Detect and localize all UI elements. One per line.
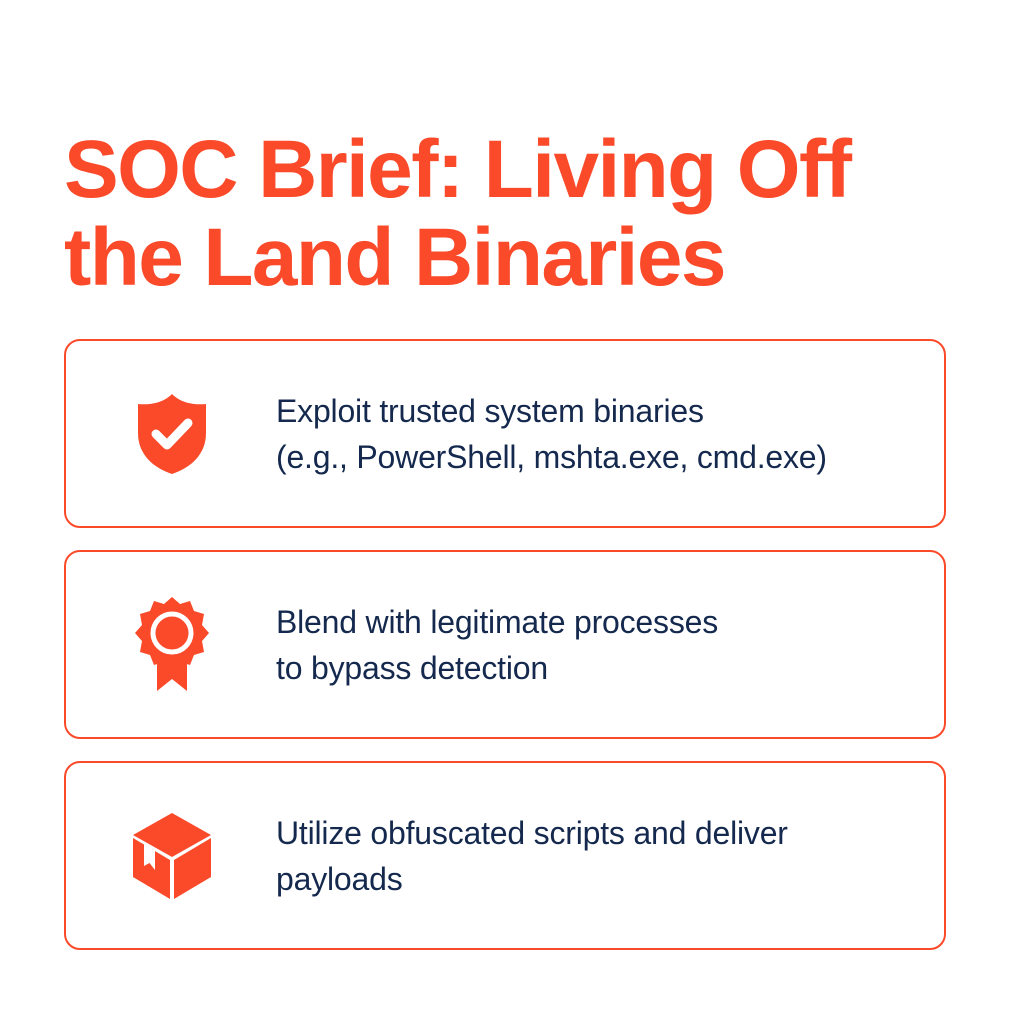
shield-check-icon: [130, 392, 214, 476]
card-item[interactable]: Exploit trusted system binaries (e.g., P…: [64, 339, 946, 528]
card-item[interactable]: Utilize obfuscated scripts and deliver p…: [64, 761, 946, 950]
card-item[interactable]: Blend with legitimate processes to bypas…: [64, 550, 946, 739]
package-box-icon: [130, 814, 214, 898]
title-block: SOC Brief: Living Off the Land Binaries: [64, 126, 964, 302]
card-list: Exploit trusted system binaries (e.g., P…: [64, 339, 946, 950]
infographic-root: SOC Brief: Living Off the Land Binaries …: [0, 0, 1024, 1024]
card-text: Utilize obfuscated scripts and deliver p…: [276, 810, 788, 902]
award-badge-icon: [130, 603, 214, 687]
card-text: Blend with legitimate processes to bypas…: [276, 599, 718, 691]
page-title: SOC Brief: Living Off the Land Binaries: [64, 126, 964, 302]
card-text: Exploit trusted system binaries (e.g., P…: [276, 388, 827, 480]
